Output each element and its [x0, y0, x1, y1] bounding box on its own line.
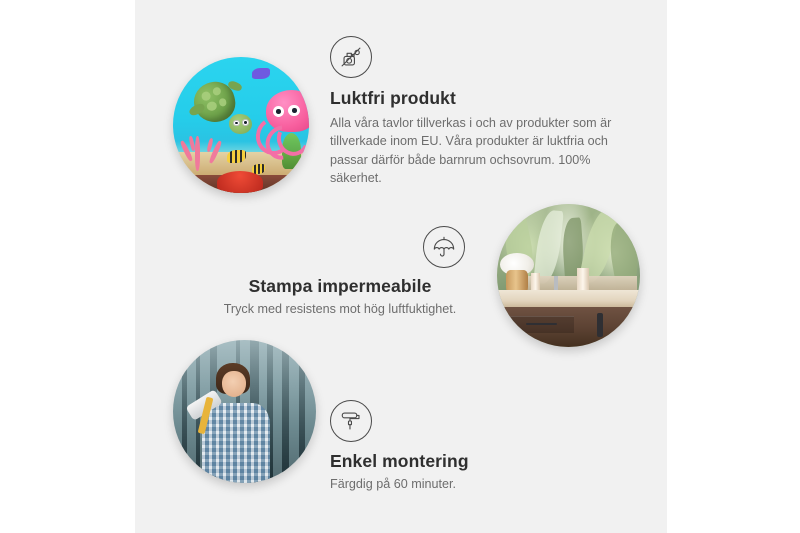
- turtle-head: [229, 114, 252, 133]
- feature-body: Färgdig på 60 minuter.: [330, 475, 580, 493]
- umbrella-icon: [423, 226, 465, 268]
- turtle-eye-right: [242, 119, 249, 126]
- forest-tree: [299, 340, 305, 483]
- bathroom-countertop: [497, 290, 640, 309]
- photo-underwater-inner: [173, 57, 309, 193]
- no-fragrance-icon: [330, 36, 372, 78]
- feature-waterproof: Stampa impermeabile Tryck med resistens …: [215, 226, 465, 318]
- sea-turtle: [188, 79, 251, 136]
- bathroom-vanity: [497, 307, 640, 347]
- photo-forest-painter: [173, 340, 316, 483]
- coral-plant: [181, 130, 219, 171]
- octopus: [255, 90, 309, 158]
- crab: [217, 171, 263, 193]
- feature-title: Stampa impermeabile: [215, 276, 465, 297]
- forest-tree: [182, 340, 188, 483]
- photo-underwater-scene: [173, 57, 309, 193]
- paint-roller-icon: [330, 400, 372, 442]
- feature-body: Alla våra tavlor tillverkas i och av pro…: [330, 114, 622, 187]
- octopus-eye-right: [288, 105, 299, 116]
- turtle-eye-left: [233, 120, 240, 127]
- forest-tree: [282, 340, 289, 483]
- painter-face: [222, 371, 246, 397]
- painter-plaid-shirt: [202, 403, 271, 483]
- feature-title: Luktfri produkt: [330, 88, 622, 109]
- fish-blue: [252, 68, 270, 79]
- photo-bathroom-scene: [497, 204, 640, 347]
- octopus-eye-left: [273, 106, 284, 117]
- feature-assembly: Enkel montering Färgdig på 60 minuter.: [330, 400, 580, 493]
- vanity-drawer-handle: [526, 323, 557, 325]
- feature-title: Enkel montering: [330, 451, 580, 472]
- photo-forest-inner: [173, 340, 316, 483]
- feature-body: Tryck med resistens mot hög luftfuktighe…: [215, 300, 465, 318]
- feature-odourless: Luktfri produkt Alla våra tavlor tillver…: [330, 36, 622, 187]
- vanity-door-handle: [597, 313, 603, 337]
- infographic-canvas: Luktfri produkt Alla våra tavlor tillver…: [0, 0, 800, 533]
- photo-bathroom-inner: [497, 204, 640, 347]
